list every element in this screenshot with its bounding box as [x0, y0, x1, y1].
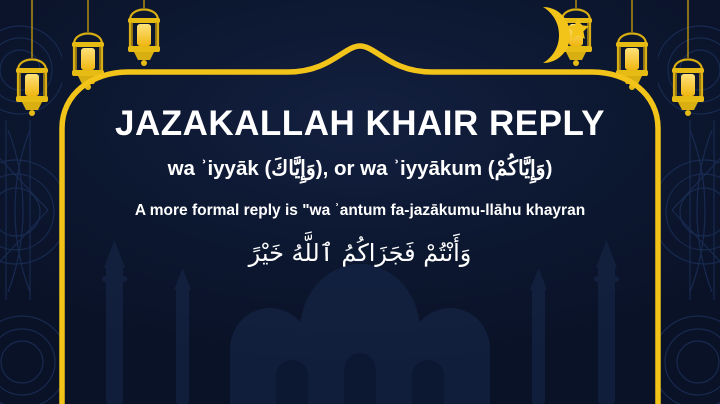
poster-canvas: JAZAKALLAH KHAIR REPLY wa ʾiyyāk (وَإِيّ… [0, 0, 720, 404]
page-title: JAZAKALLAH KHAIR REPLY [115, 106, 605, 141]
arabic-phrase: وَأَنْتُمْ فَجَزَاكُمُ ٱللَّهُ خَيْرً [249, 235, 472, 271]
crescent-moon-and-star-icon [520, 4, 600, 66]
lantern-icon [16, 60, 48, 117]
content-panel: JAZAKALLAH KHAIR REPLY wa ʾiyyāk (وَإِيّ… [64, 76, 656, 404]
lantern-icon [128, 10, 160, 67]
transliteration-line: wa ʾiyyāk (وَإِيَّاكَ), or wa ʾiyyākum (… [168, 157, 553, 181]
lantern-icon [672, 60, 704, 117]
formal-reply-note: A more formal reply is "wa ʾantum fa-jaz… [135, 199, 585, 223]
